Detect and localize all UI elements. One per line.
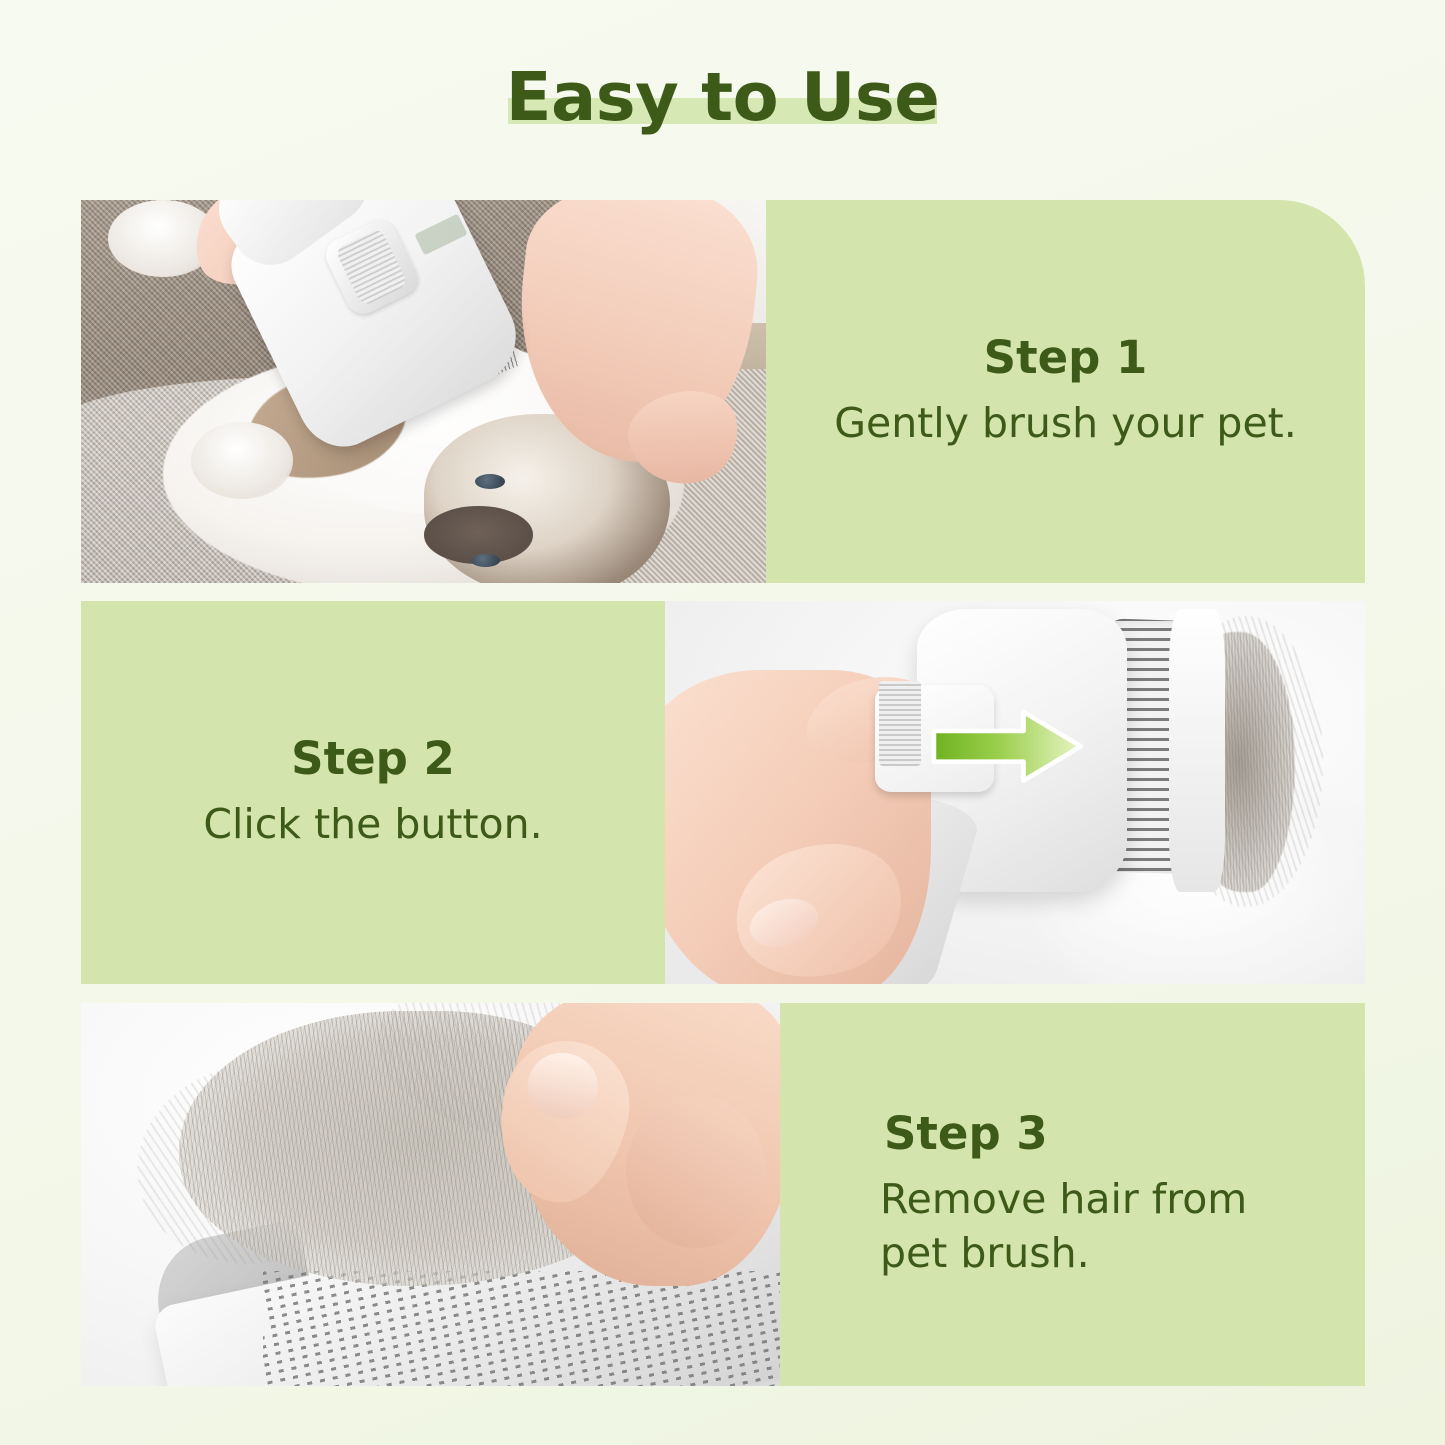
person-knuckle — [626, 1095, 766, 1248]
step-row-2: Step 2 Click the button. — [81, 601, 1365, 984]
brush-slot-holes — [263, 1271, 780, 1386]
brush-comb-edge — [1169, 609, 1225, 892]
step-1-heading: Step 1 — [984, 333, 1148, 383]
page-title-container: Easy to Use — [0, 62, 1445, 172]
step-2-photo — [665, 601, 1365, 984]
step-3-photo — [81, 1003, 780, 1386]
step-1-panel: Step 1 Gently brush your pet. — [766, 200, 1365, 583]
cat-eye-upper — [475, 474, 505, 489]
cat-front-paw — [191, 422, 294, 499]
step-row-3: Step 3 Remove hair from pet brush. — [81, 1003, 1365, 1386]
brush-button-grip — [879, 681, 921, 765]
page-title-inner: Easy to Use — [500, 62, 945, 132]
step-3-heading: Step 3 — [884, 1109, 1048, 1159]
step-2-panel: Step 2 Click the button. — [81, 601, 665, 984]
step-row-1: Step 1 Gently brush your pet. — [81, 200, 1365, 583]
step-3-body: Remove hair from pet brush. — [880, 1172, 1319, 1280]
page-title: Easy to Use — [506, 62, 939, 132]
step-1-body: Gently brush your pet. — [834, 396, 1297, 450]
step-3-panel: Step 3 Remove hair from pet brush. — [780, 1003, 1365, 1386]
step-1-photo — [81, 200, 766, 583]
step-2-body: Click the button. — [203, 797, 542, 851]
infographic-page: Easy to Use — [0, 0, 1445, 1445]
push-direction-arrow-icon — [931, 708, 1085, 785]
step-2-heading: Step 2 — [291, 734, 455, 784]
